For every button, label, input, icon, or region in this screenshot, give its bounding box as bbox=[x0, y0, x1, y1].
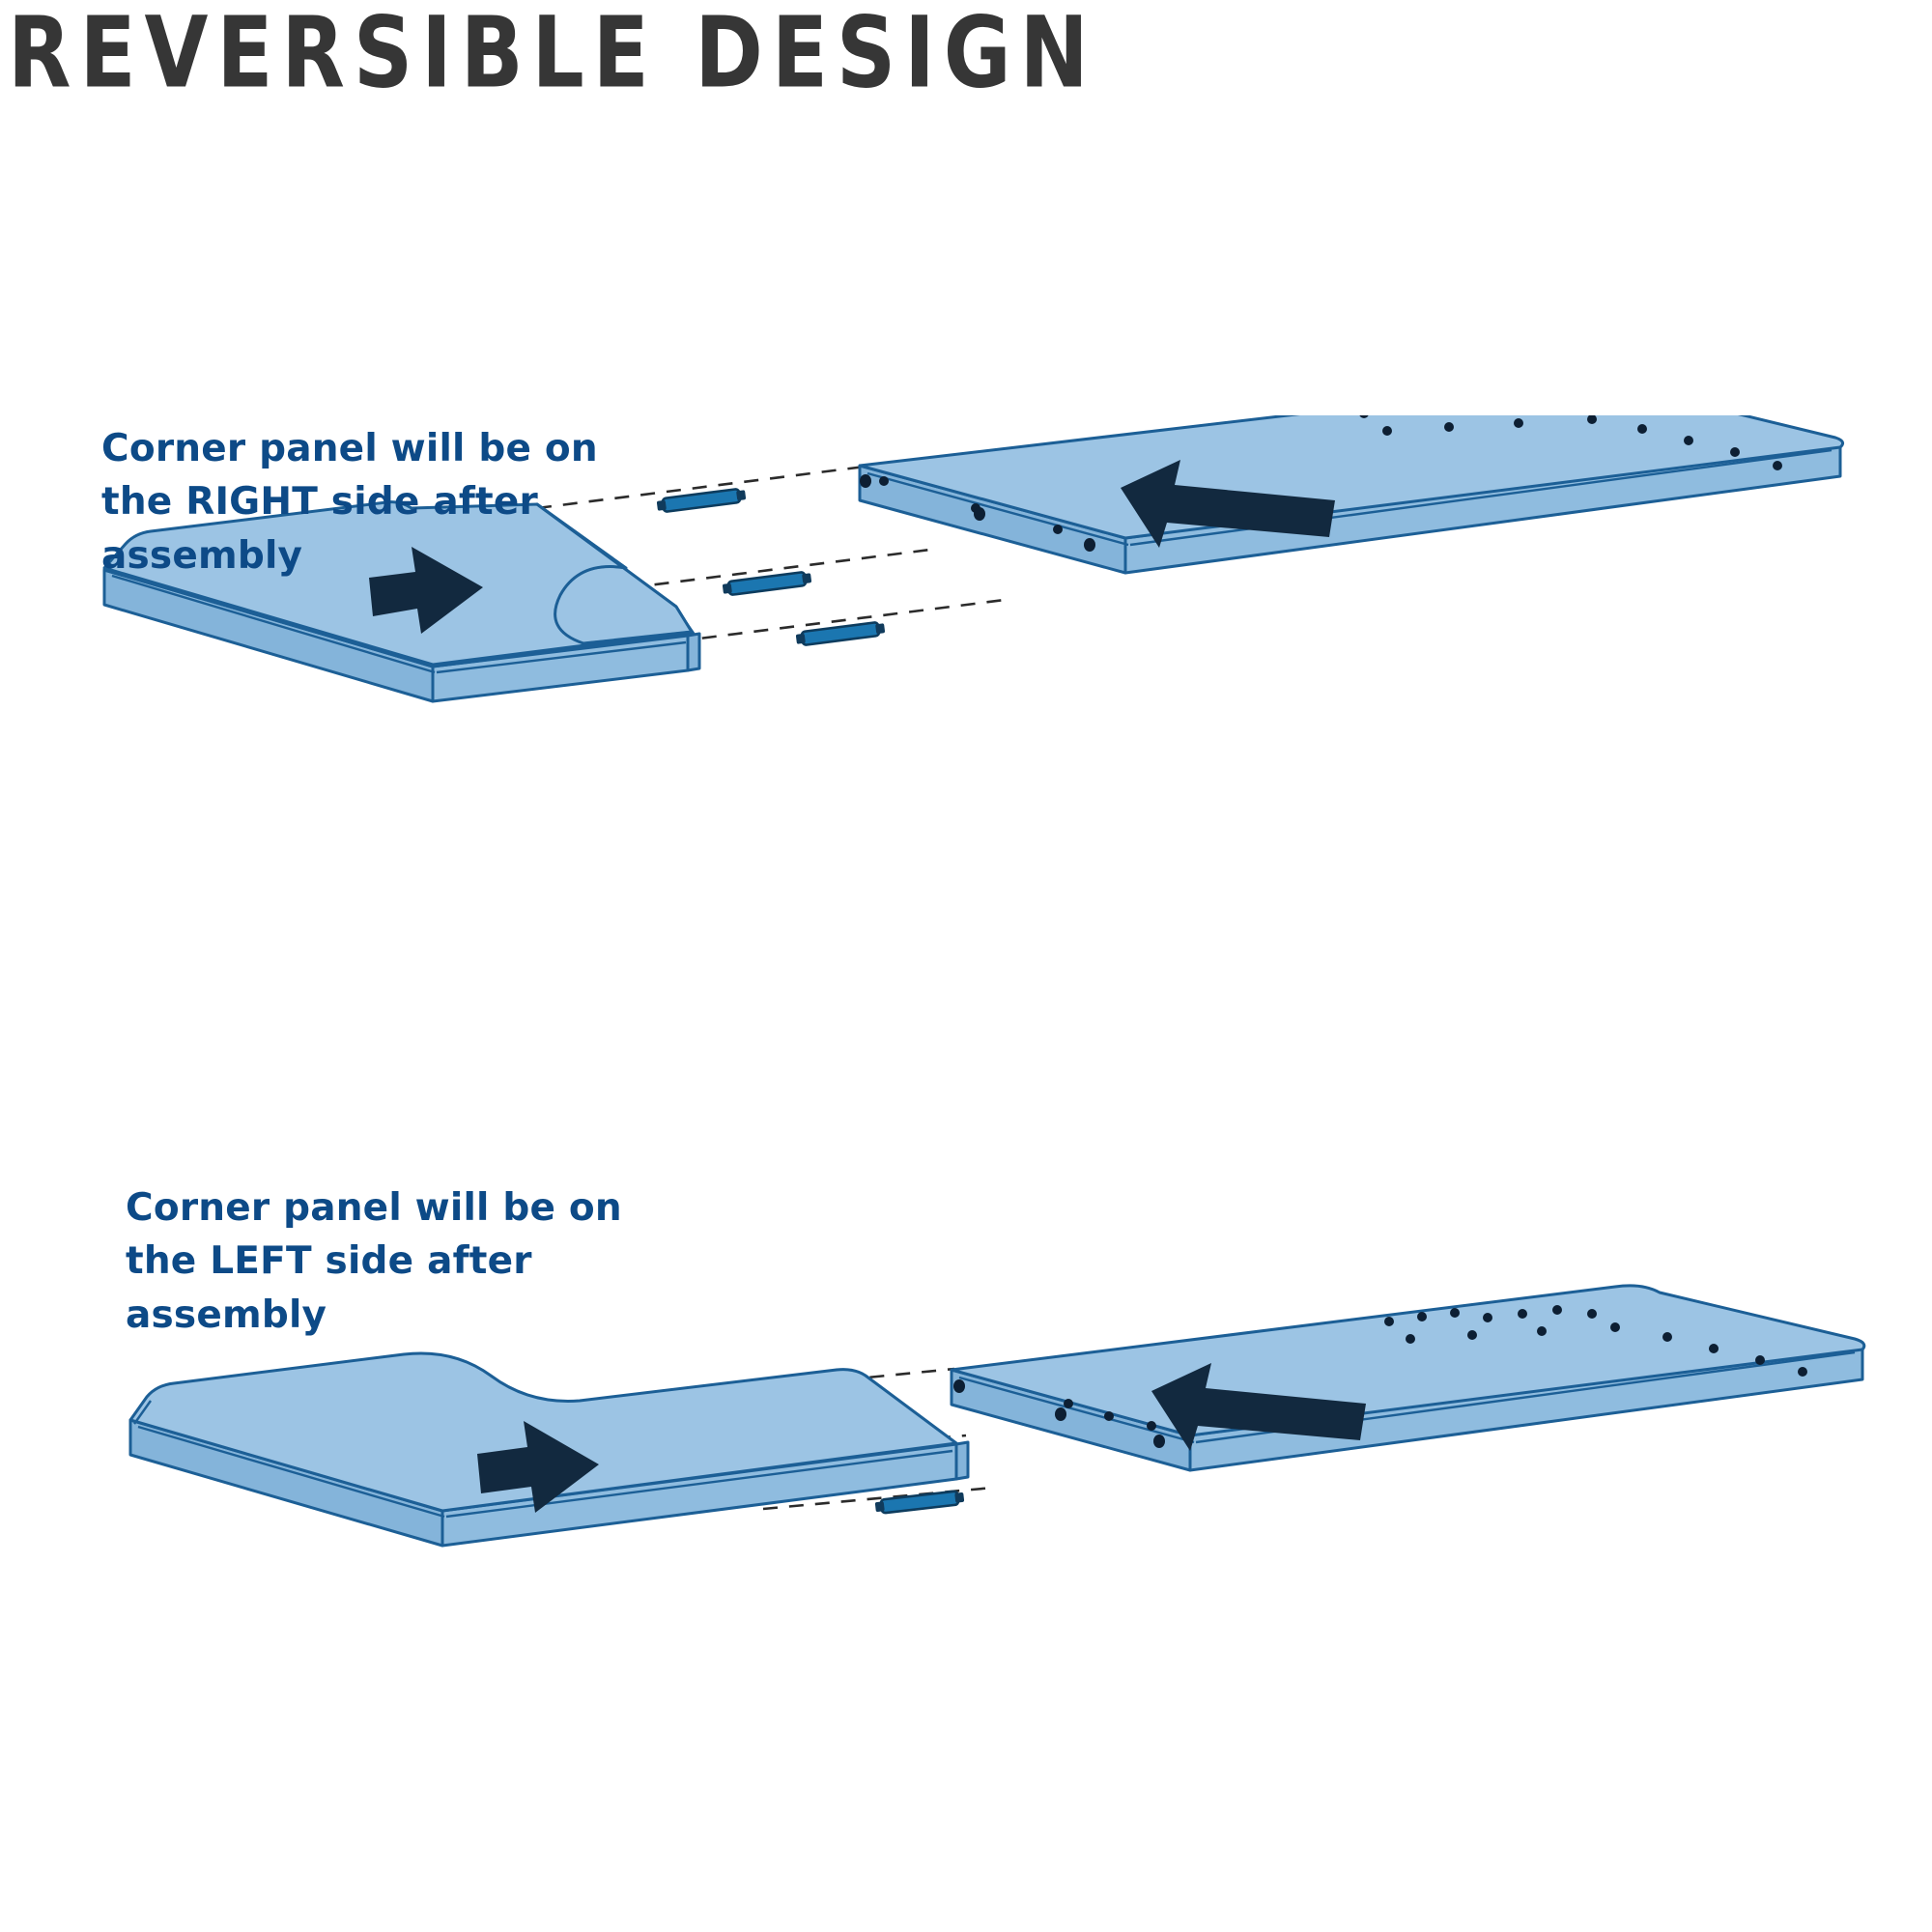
dowel-pin-group[interactable] bbox=[656, 488, 885, 646]
caption-left-configuration: Corner panel will be on the LEFT side af… bbox=[126, 1181, 622, 1342]
figure-left-configuration bbox=[0, 1246, 1932, 1922]
corner-panel[interactable] bbox=[130, 1353, 968, 1546]
page-title: REVERSIBLE DESIGN bbox=[8, 2, 1097, 105]
main-desktop-panel[interactable] bbox=[860, 415, 1843, 573]
caption-right-configuration: Corner panel will be on the RIGHT side a… bbox=[101, 422, 598, 582]
instruction-page: REVERSIBLE DESIGN bbox=[0, 0, 1932, 1932]
figure-bottom-illustration bbox=[0, 1246, 1932, 1922]
main-desktop-panel[interactable] bbox=[952, 1286, 1864, 1470]
